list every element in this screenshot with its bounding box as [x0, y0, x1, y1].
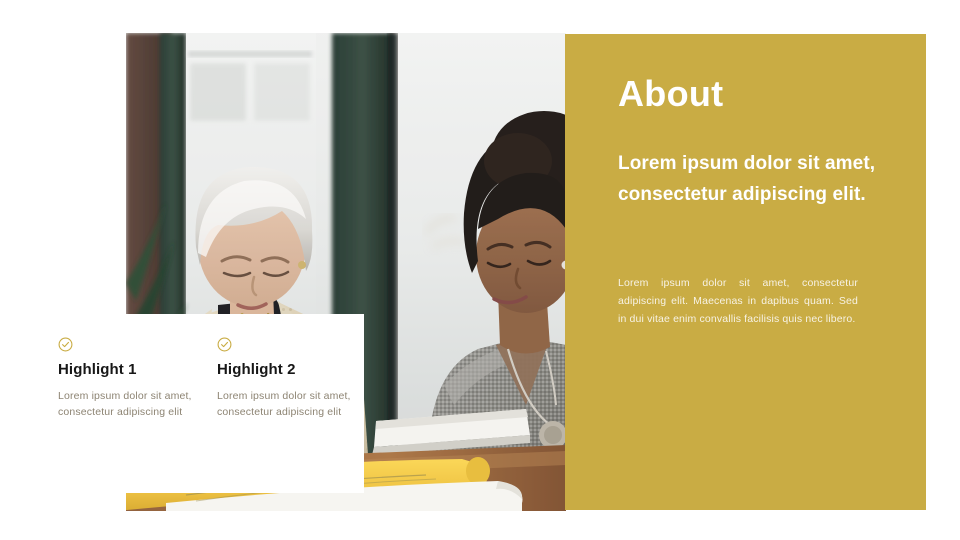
- about-slide: About Lorem ipsum dolor sit amet, consec…: [0, 0, 960, 540]
- highlight-item-2: Highlight 2 Lorem ipsum dolor sit amet, …: [217, 337, 376, 420]
- highlight-columns: Highlight 1 Lorem ipsum dolor sit amet, …: [58, 337, 358, 420]
- check-circle-icon: [58, 337, 73, 352]
- highlight-title: Highlight 2: [217, 361, 376, 379]
- panel-body-text: Lorem ipsum dolor sit amet, consectetur …: [618, 274, 858, 328]
- check-circle-icon: [217, 337, 232, 352]
- about-panel: About Lorem ipsum dolor sit amet, consec…: [565, 34, 926, 510]
- highlight-item-1: Highlight 1 Lorem ipsum dolor sit amet, …: [58, 337, 217, 420]
- highlight-description: Lorem ipsum dolor sit amet, consectetur …: [217, 388, 357, 420]
- highlight-card: Highlight 1 Lorem ipsum dolor sit amet, …: [0, 314, 364, 493]
- highlight-description: Lorem ipsum dolor sit amet, consectetur …: [58, 388, 198, 420]
- page-title: About: [618, 73, 723, 115]
- highlight-title: Highlight 1: [58, 361, 217, 379]
- panel-subtitle: Lorem ipsum dolor sit amet, consectetur …: [618, 149, 878, 210]
